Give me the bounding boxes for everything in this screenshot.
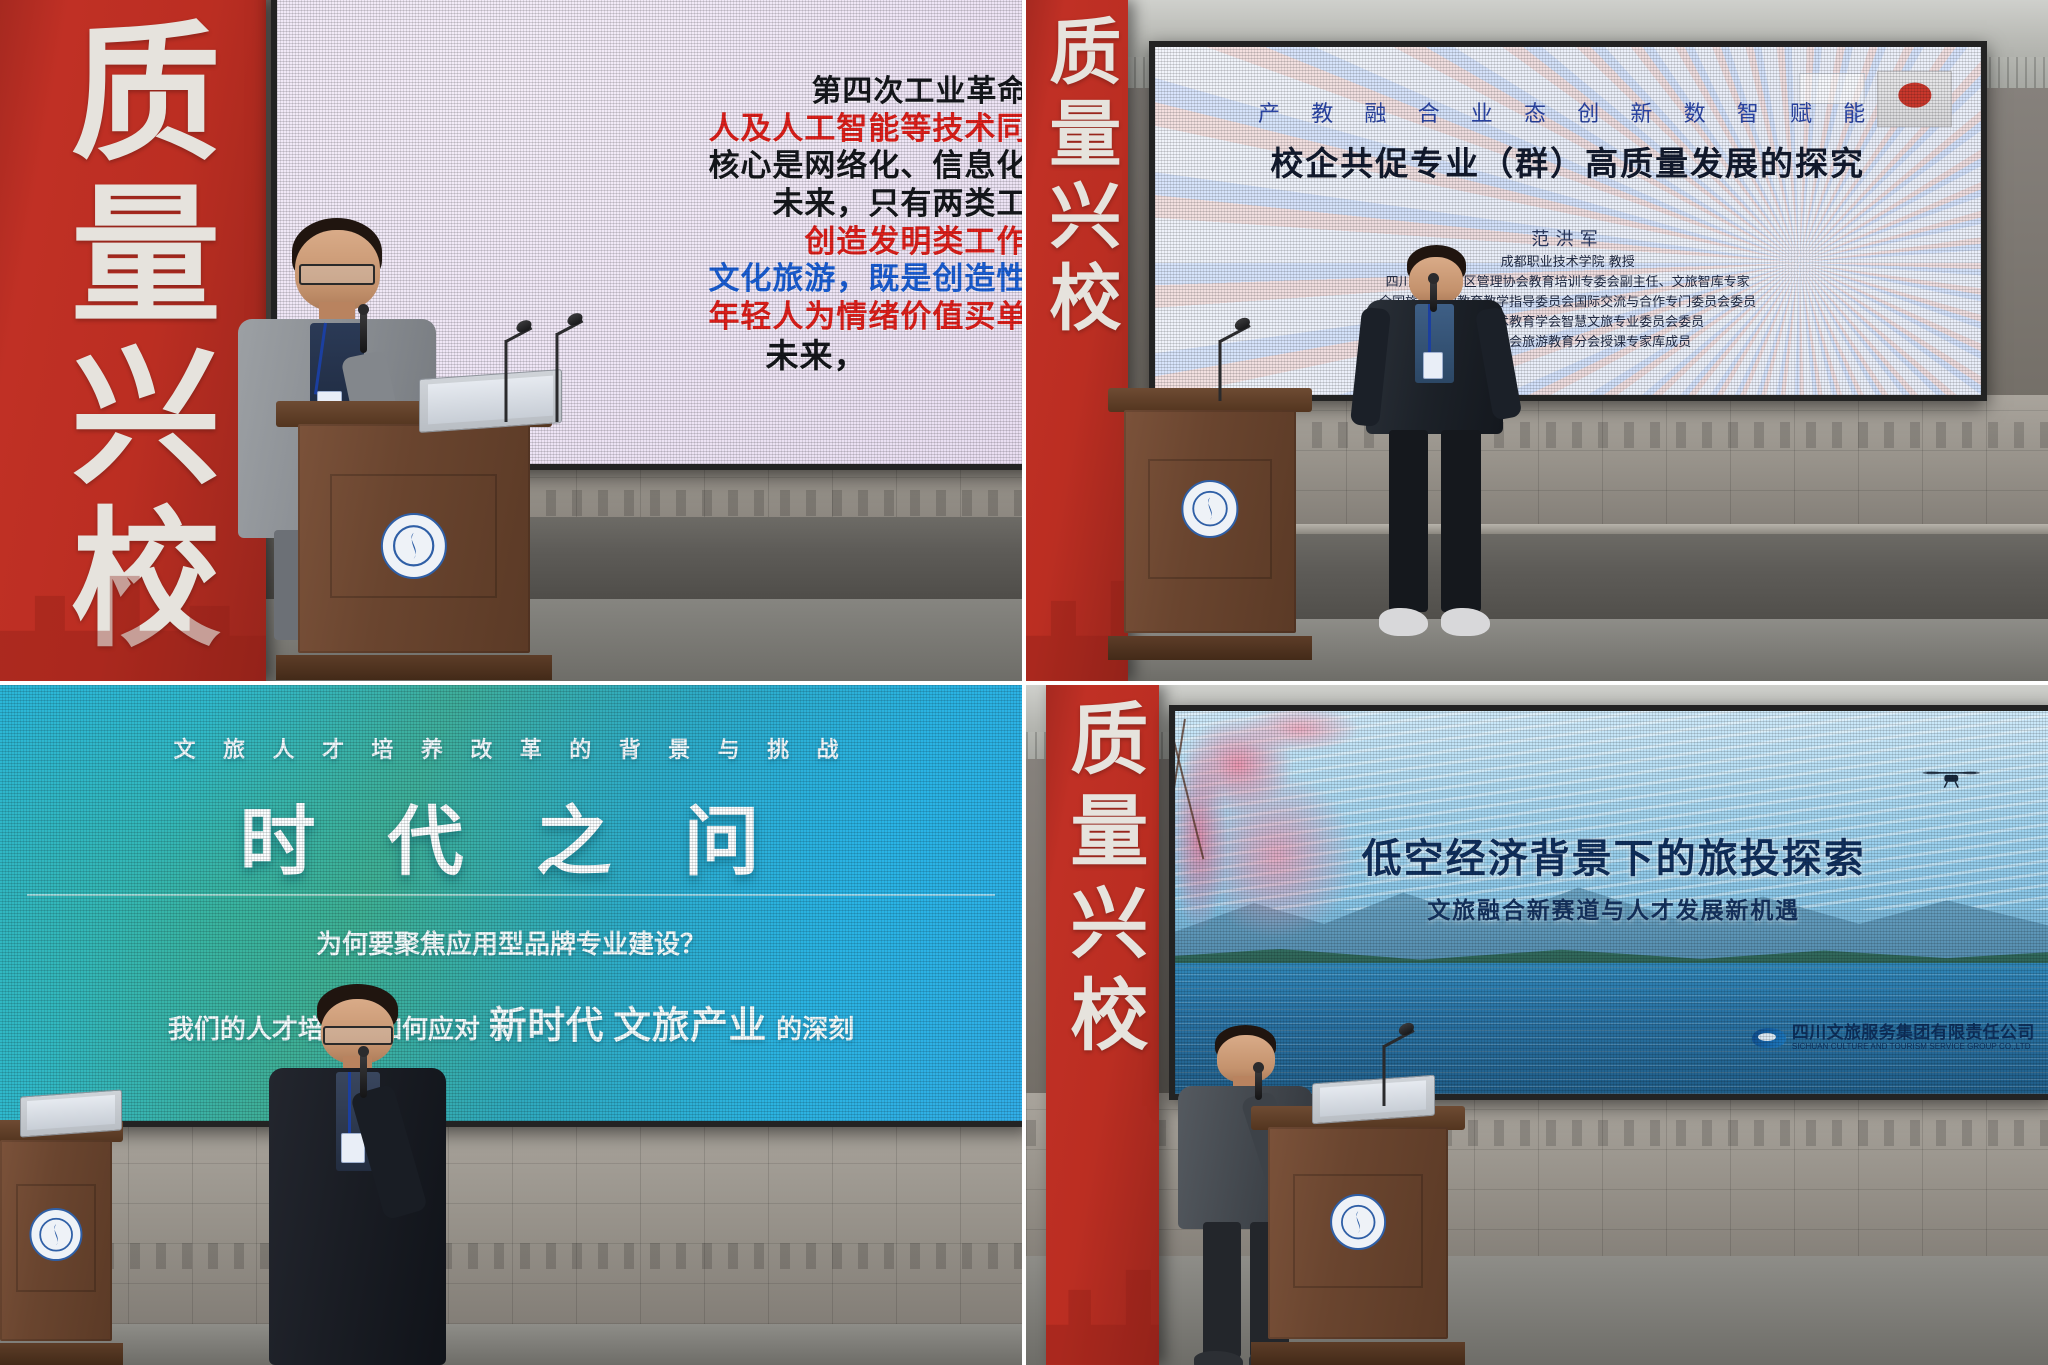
slide-hero-title: 时 代 之 问	[0, 780, 1022, 890]
mic-stand-left	[480, 340, 531, 422]
lanyard	[348, 1072, 351, 1137]
speaker-figure	[1353, 245, 1517, 640]
q2-emphasis-1: 新时代	[489, 1003, 604, 1047]
podium	[1251, 1106, 1466, 1365]
red-banner: 质量兴校	[1046, 685, 1158, 1365]
slide-title: 低空经济背景下的旅投探索	[1175, 826, 2048, 884]
org-name-en: SICHUAN CULTURE AND TOURISM SERVICE GROU…	[1792, 1043, 2035, 1052]
leg-left	[1203, 1222, 1241, 1358]
handheld-microphone	[360, 1053, 367, 1099]
shoe-left	[1379, 608, 1428, 636]
laptop-screen	[27, 1095, 115, 1131]
led-screen-frame: 产 教 融 合 业 态 创 新 数 智 赋 能 校企共促专业（群）高质量发展的探…	[1149, 41, 1987, 402]
school-emblem	[1330, 1194, 1386, 1250]
mic-pole	[504, 340, 507, 422]
drone-icon	[1903, 764, 1999, 798]
presentation-slide: 文 旅 人 才 培 养 改 革 的 背 景 与 挑 战 时 代 之 问 为何要聚…	[0, 685, 1022, 1121]
emblem-glyph	[392, 524, 436, 568]
podium-base	[1108, 636, 1312, 660]
slide-line: 人及人工智能等技术同	[708, 113, 1022, 146]
mic-stand	[1353, 1045, 1414, 1106]
slide-divider	[27, 894, 996, 896]
handheld-microphone	[360, 311, 367, 353]
mic-pole	[555, 333, 558, 421]
slide-title: 校企共促专业（群）高质量发展的探究	[1155, 137, 1981, 185]
speaker-figure	[266, 984, 450, 1365]
mic-capsule	[358, 304, 369, 315]
slide-line: 未来，	[765, 339, 867, 374]
credential-line: 中国职业技术教育学会智慧文旅专业委员会委员	[1171, 313, 1964, 333]
mic-pole	[1382, 1045, 1385, 1106]
slide-line: 年轻人为情绪价值买单	[708, 301, 1022, 334]
lanyard	[1428, 304, 1431, 355]
podium	[0, 1120, 123, 1365]
skyline-graphic	[1046, 1215, 1158, 1365]
emblem-glyph	[1340, 1204, 1376, 1240]
school-emblem	[30, 1208, 83, 1261]
photo-collage: 质量兴校 第四次工业革命 人及人工智能等技术同 核心是网络化、信息化 未来，只有…	[0, 0, 2048, 1365]
leg-right	[1441, 430, 1480, 612]
wall-vent-strip	[0, 1243, 1022, 1269]
slide-kicker: 文 旅 人 才 培 养 改 革 的 背 景 与 挑 战	[0, 732, 1022, 764]
led-screen: 产 教 融 合 业 态 创 新 数 智 赋 能 校企共促专业（群）高质量发展的探…	[1155, 47, 1981, 396]
led-screen-frame: 文 旅 人 才 培 养 改 革 的 背 景 与 挑 战 时 代 之 问 为何要聚…	[0, 685, 1022, 1127]
mic-pole	[1219, 340, 1222, 401]
school-emblem	[381, 513, 447, 579]
school-emblem	[1181, 480, 1238, 537]
slide-line: 核心是网络化、信息化	[708, 150, 1022, 183]
podium	[1108, 388, 1312, 660]
laptop[interactable]	[20, 1093, 122, 1134]
panel-bottom-left: 文 旅 人 才 培 养 改 革 的 背 景 与 挑 战 时 代 之 问 为何要聚…	[0, 685, 1022, 1365]
org-name-cn: 四川文旅服务集团有限责任公司	[1792, 1024, 2035, 1043]
org-logo-text: 四川文旅服务集团有限责任公司 SICHUAN CULTURE AND TOURI…	[1792, 1024, 2035, 1051]
q2-emphasis-2: 文旅产业	[613, 1003, 767, 1047]
q2-suffix: 的深刻	[776, 1015, 854, 1045]
handheld-microphone	[1430, 280, 1437, 312]
glasses-icon	[299, 264, 375, 285]
mic-capsule	[358, 1046, 369, 1057]
panel-top-left: 质量兴校 第四次工业革命 人及人工智能等技术同 核心是网络化、信息化 未来，只有…	[0, 0, 1022, 681]
laptop-lid	[20, 1089, 122, 1137]
banner-text: 质量兴校	[1063, 698, 1143, 1066]
led-screen: 文 旅 人 才 培 养 改 革 的 背 景 与 挑 战 时 代 之 问 为何要聚…	[0, 685, 1022, 1121]
mic-capsule	[1253, 1062, 1264, 1073]
emblem-glyph	[39, 1217, 74, 1252]
floor	[0, 1324, 1022, 1365]
speaker-affiliation: 成都职业技术学院 教授	[1171, 253, 1964, 273]
emblem-glyph	[1191, 490, 1228, 527]
leg-left	[1389, 430, 1428, 612]
slide-subtitle: 文旅融合新赛道与人才发展新机遇	[1175, 891, 2048, 925]
mic-stand	[1190, 340, 1251, 401]
speaker-name: 范洪军	[1155, 225, 1981, 251]
slide-line: 文化旅游，既是创造性	[708, 263, 1022, 296]
slide-subtitle-keywords: 产 教 融 合 业 态 创 新 数 智 赋 能	[1155, 96, 1981, 128]
org-logo: 四川文旅服务集团有限责任公司 SICHUAN CULTURE AND TOURI…	[1752, 1024, 2035, 1051]
presentation-slide: 产 教 融 合 业 态 创 新 数 智 赋 能 校企共促专业（群）高质量发展的探…	[1155, 47, 1981, 396]
podium-base	[1251, 1342, 1466, 1365]
name-badge	[1423, 352, 1443, 380]
credential-line: 全国旅游职业教育教学指导委员会国际交流与合作专门委员会委员	[1171, 293, 1964, 313]
credential-line: 四川省旅游景区管理协会教育培训专委会副主任、文旅智库专家	[1171, 273, 1964, 293]
org-logo-mark	[1752, 1028, 1786, 1048]
shoe-right	[1441, 608, 1490, 636]
podium-base	[276, 655, 552, 680]
slide-question-2: 我们的人才培养，如何应对 新时代 文旅产业 的深刻	[0, 994, 1022, 1049]
slide-line: 未来，只有两类工	[772, 188, 1022, 221]
podium	[276, 401, 552, 680]
podium-base	[0, 1343, 123, 1365]
panel-bottom-right: 质量兴校	[1026, 685, 2048, 1365]
slide-line: 创造发明类工作	[804, 226, 1022, 259]
credential-line: 中国旅游协会旅游教育分会授课专家库成员	[1171, 333, 1964, 353]
wall-wainscot	[0, 1120, 1022, 1324]
handheld-microphone	[1255, 1069, 1262, 1100]
shoe-left	[1194, 1351, 1243, 1365]
speaker-credentials: 成都职业技术学院 教授 四川省旅游景区管理协会教育培训专委会副主任、文旅智库专家…	[1171, 253, 1964, 354]
slide-line: 第四次工业革命	[811, 76, 1022, 108]
panel-top-right: 质量兴校 产 教 融 合 业 态 创 新 数 智 赋 能 校企共促专业（群）高质…	[1026, 0, 2048, 681]
banner-text: 质量兴校	[1040, 14, 1113, 342]
slide-question-1: 为何要聚焦应用型品牌专业建设？	[0, 924, 1022, 961]
mic-stand-right	[531, 333, 582, 421]
glasses-icon	[323, 1026, 393, 1045]
